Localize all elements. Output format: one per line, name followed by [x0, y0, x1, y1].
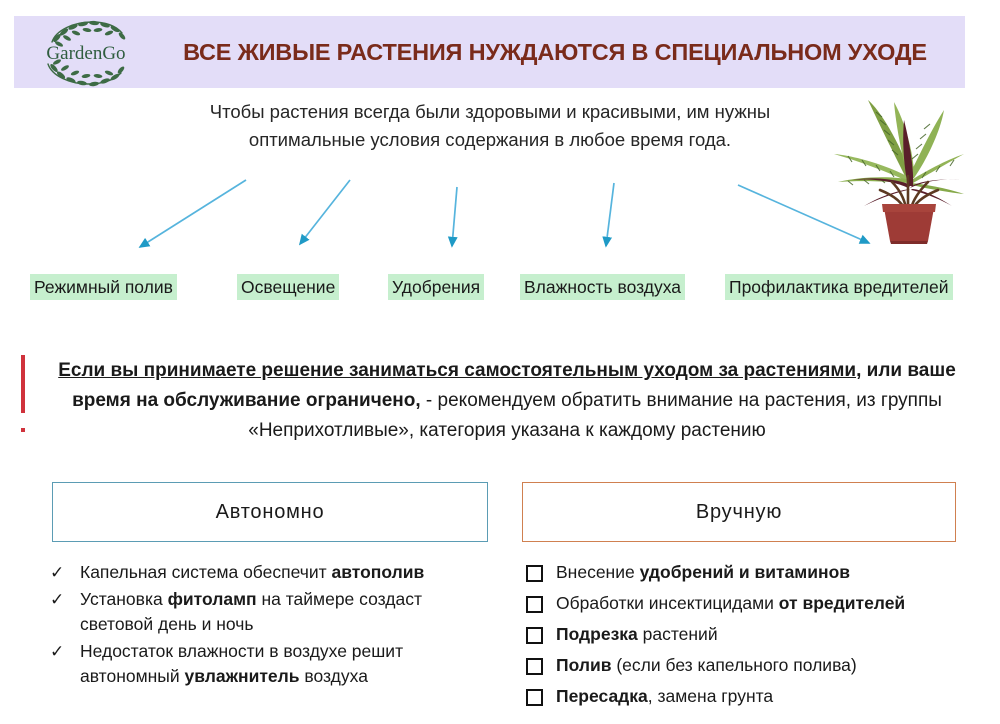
tag-profilaktika-vreditelej[interactable]: Профилактика вредителей	[725, 274, 953, 300]
list-item-bold: увлажнитель	[185, 666, 300, 686]
tag-rezhimnyj-poliv[interactable]: Режимный полив	[30, 274, 177, 300]
check-mark-icon: ✓	[46, 560, 80, 585]
list-item-text: Капельная система обеспечит автополив	[80, 560, 496, 585]
arrow-to-rezhimnyj-poliv	[140, 180, 246, 247]
list-item-pre: Установка	[80, 589, 168, 609]
list-item-bold: от вредителей	[779, 593, 905, 613]
list-item[interactable]: ✓ Капельная система обеспечит автополив	[46, 560, 496, 585]
list-item[interactable]: Подрезка растений	[522, 622, 977, 651]
column-header-manual[interactable]: Вручную	[522, 482, 956, 542]
quote-block: Если вы принимаете решение заниматься са…	[42, 356, 972, 446]
list-item-text: Установка фитоламп на таймере создаст св…	[80, 587, 496, 637]
list-item-bold: удобрений и витаминов	[640, 562, 850, 582]
manual-list: Внесение удобрений и витаминов Обработки…	[522, 560, 977, 715]
check-mark-icon: ✓	[46, 639, 80, 664]
list-item[interactable]: Полив (если без капельного полива)	[522, 653, 977, 682]
brand-logo[interactable]: GardenGo	[26, 18, 146, 88]
column-header-autonomous[interactable]: Автономно	[52, 482, 488, 542]
quote-accent-dot	[21, 428, 25, 432]
empty-checkbox-icon[interactable]	[522, 684, 556, 713]
list-item-pre: Капельная система обеспечит	[80, 562, 332, 582]
calathea-plant-icon	[818, 86, 993, 246]
tag-udobreniya[interactable]: Удобрения	[388, 274, 484, 300]
tag-osveschenie[interactable]: Освещение	[237, 274, 339, 300]
potted-plant-image	[818, 86, 993, 246]
brand-logo-text: GardenGo	[46, 43, 125, 64]
laurel-wreath-icon: GardenGo	[26, 18, 146, 88]
list-item[interactable]: Пересадка, замена грунта	[522, 684, 977, 713]
intro-line-1: Чтобы растения всегда были здоровыми и к…	[170, 98, 810, 126]
list-item-pre: Обработки инсектицидами	[556, 593, 779, 613]
arrow-to-vlazhnost-vozduha	[606, 183, 614, 246]
intro-paragraph: Чтобы растения всегда были здоровыми и к…	[170, 98, 810, 154]
list-item[interactable]: ✓ Недостаток влажности в воздухе решит а…	[46, 639, 496, 689]
quote-bold-underlined: Если вы принимаете решение заниматься са…	[58, 360, 861, 381]
list-item-post: (если без капельного полива)	[611, 655, 856, 675]
list-item-bold: Подрезка	[556, 624, 638, 644]
tag-vlazhnost-vozduha[interactable]: Влажность воздуха	[520, 274, 685, 300]
page-title: ВСЕ ЖИВЫЕ РАСТЕНИЯ НУЖДАЮТСЯ В СПЕЦИАЛЬН…	[155, 16, 955, 88]
list-item-bold: фитоламп	[168, 589, 257, 609]
list-item-text: Полив (если без капельного полива)	[556, 653, 977, 678]
list-item-post: растений	[638, 624, 718, 644]
quote-accent-bar	[21, 355, 25, 413]
category-tag-row: Режимный полив Освещение Удобрения Влажн…	[30, 274, 985, 300]
arrow-to-osveschenie	[300, 180, 350, 244]
intro-line-2: оптимальные условия содержания в любое в…	[170, 126, 810, 154]
list-item-text: Недостаток влажности в воздухе решит авт…	[80, 639, 496, 689]
list-item-bold: автополив	[332, 562, 425, 582]
list-item[interactable]: Обработки инсектицидами от вредителей	[522, 591, 977, 620]
list-item-post: воздуха	[300, 666, 368, 686]
autonomous-list: ✓ Капельная система обеспечит автополив …	[46, 560, 496, 691]
list-item-post: , замена грунта	[648, 686, 773, 706]
list-item-text: Обработки инсектицидами от вредителей	[556, 591, 977, 616]
list-item-bold: Полив	[556, 655, 611, 675]
empty-checkbox-icon[interactable]	[522, 622, 556, 651]
empty-checkbox-icon[interactable]	[522, 591, 556, 620]
list-item[interactable]: ✓ Установка фитоламп на таймере создаст …	[46, 587, 496, 637]
column-header-manual-label: Вручную	[696, 501, 782, 524]
check-mark-icon: ✓	[46, 587, 80, 612]
column-header-autonomous-label: Автономно	[216, 501, 325, 524]
list-item-text: Подрезка растений	[556, 622, 977, 647]
list-item-text: Пересадка, замена грунта	[556, 684, 977, 709]
list-item-pre: Внесение	[556, 562, 640, 582]
empty-checkbox-icon[interactable]	[522, 560, 556, 589]
arrow-to-udobreniya	[452, 187, 457, 246]
list-item[interactable]: Внесение удобрений и витаминов	[522, 560, 977, 589]
list-item-text: Внесение удобрений и витаминов	[556, 560, 977, 585]
list-item-bold: Пересадка	[556, 686, 648, 706]
empty-checkbox-icon[interactable]	[522, 653, 556, 682]
